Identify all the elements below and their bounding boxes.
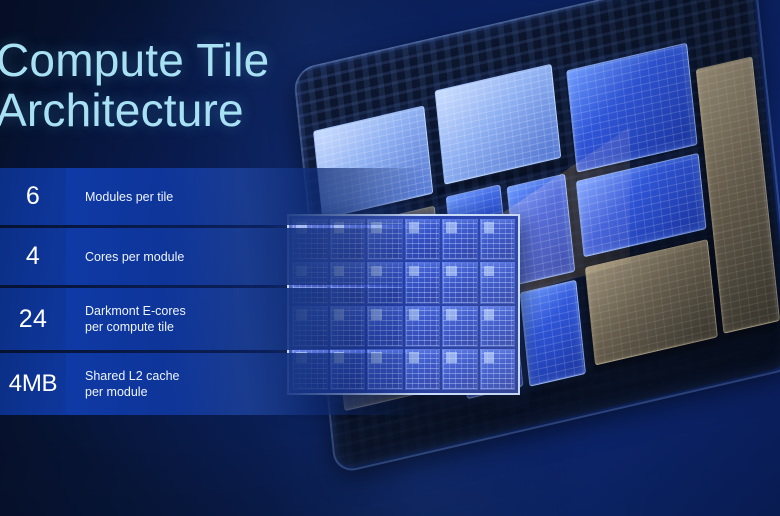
spec-label: Darkmont E-cores per compute tile: [66, 288, 420, 350]
spec-row-cores-per-module: 4 Cores per module: [0, 228, 420, 285]
spec-row-darkmont-e-cores: 24 Darkmont E-cores per compute tile: [0, 288, 420, 350]
spec-value: 4MB: [0, 353, 66, 415]
spec-row-modules-per-tile: 6 Modules per tile: [0, 168, 420, 225]
spec-label: Modules per tile: [66, 168, 420, 225]
page-title: Compute Tile Architecture: [0, 36, 269, 135]
slide-canvas: Compute Tile Architecture 6 Modules per …: [0, 0, 780, 516]
spec-row-shared-l2-cache: 4MB Shared L2 cache per module: [0, 353, 420, 415]
spec-value: 4: [0, 228, 66, 285]
spec-label: Shared L2 cache per module: [66, 353, 420, 415]
spec-table: 6 Modules per tile 4 Cores per module 24…: [0, 168, 420, 418]
spec-value: 6: [0, 168, 66, 225]
spec-value: 24: [0, 288, 66, 350]
spec-label: Cores per module: [66, 228, 420, 285]
